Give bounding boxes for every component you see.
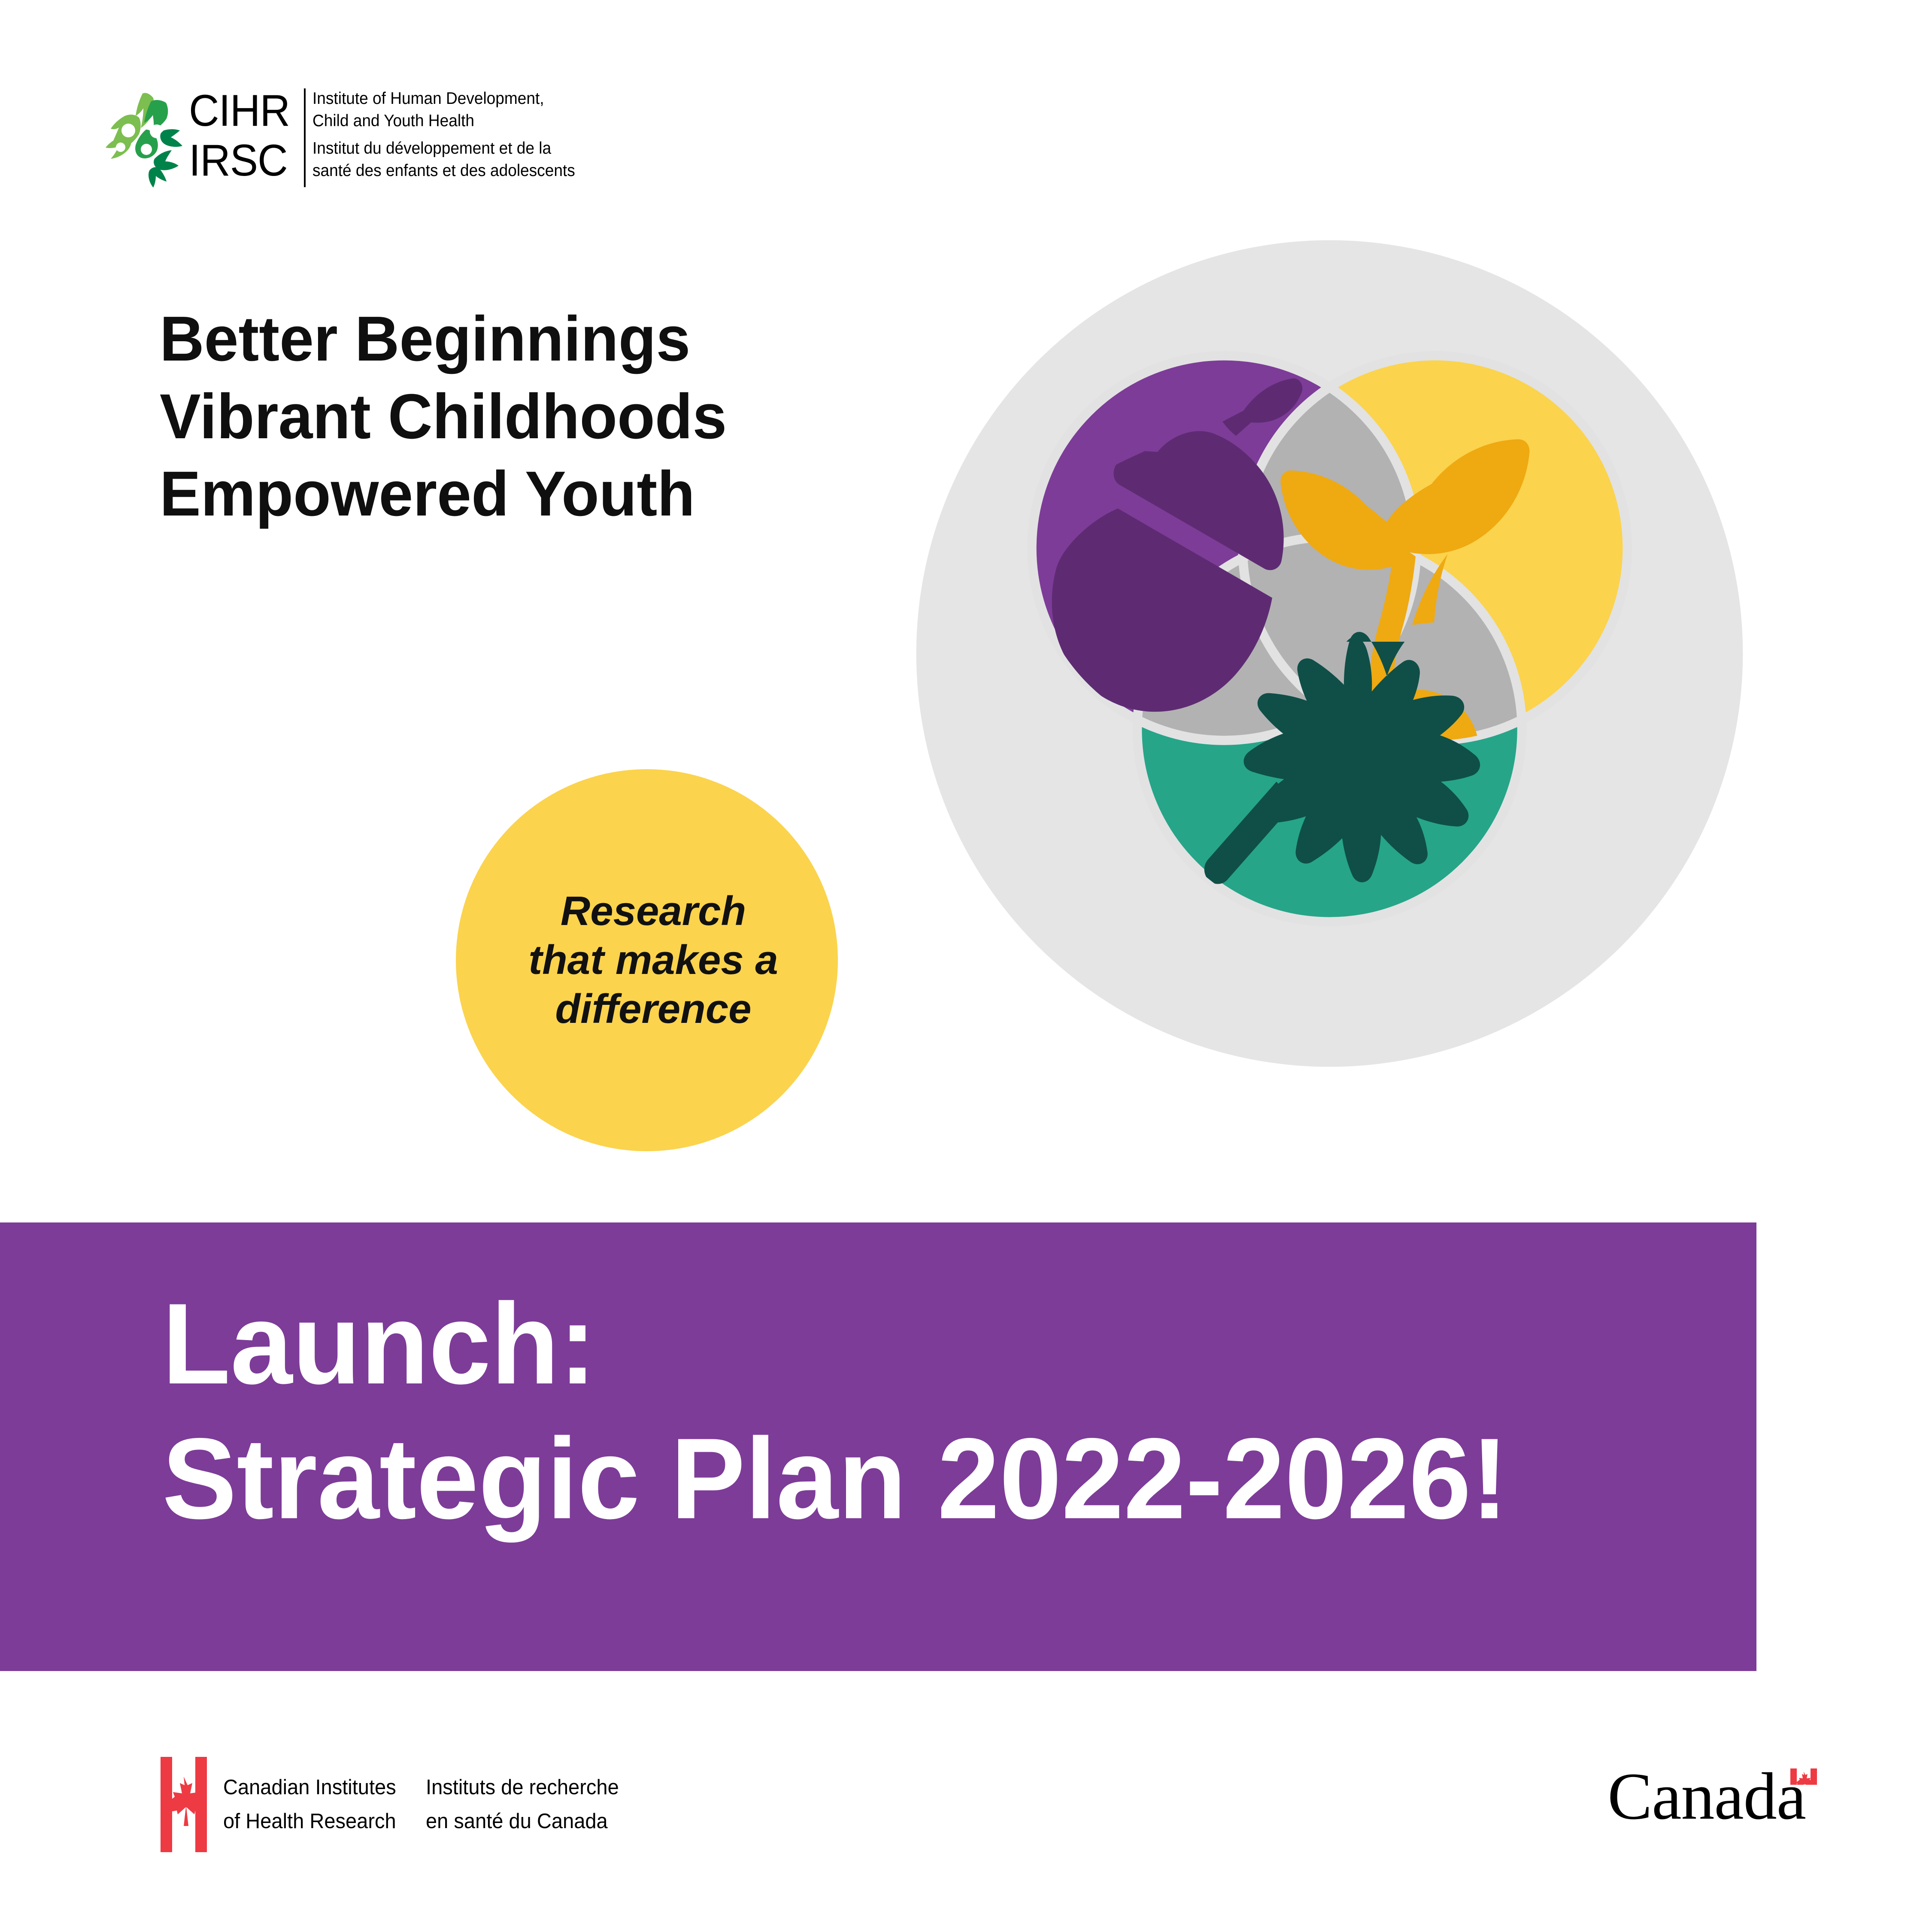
institute-name-en-line-1: Institute of Human Development, xyxy=(312,88,575,110)
footer-org-name-fr: Instituts de recherche en santé du Canad… xyxy=(426,1757,627,1852)
institute-name-en: Institute of Human Development, Child an… xyxy=(312,85,589,135)
institute-name-fr: Institut du développement et de la santé… xyxy=(312,135,589,185)
footer-org-en-line-1: Canadian Institutes xyxy=(223,1771,396,1805)
tagline-line-2: that makes a xyxy=(469,936,838,985)
acronym-irsc: IRSC xyxy=(189,136,290,185)
acronym-cihr: CIHR xyxy=(189,86,290,136)
footer-org-name-en: Canadian Institutes of Health Research xyxy=(223,1757,403,1852)
tagline-text: Research that makes a difference xyxy=(456,887,838,1034)
headline-line-3: Empowered Youth xyxy=(160,455,889,533)
venn-diagram xyxy=(908,232,1751,1075)
tagline-line-3: difference xyxy=(469,985,838,1034)
institute-name-fr-line-1: Institut du développement et de la xyxy=(312,137,575,160)
footer-cihr-signature: Canadian Institutes of Health Research I… xyxy=(161,1757,627,1852)
footer-org-fr-line-2: en santé du Canada xyxy=(426,1805,619,1838)
canada-wordmark-text: Canada xyxy=(1607,1764,1806,1829)
tagline-bubble: Research that makes a difference xyxy=(456,769,838,1151)
footer-org-fr-line-1: Instituts de recherche xyxy=(426,1771,619,1805)
canada-flag-icon xyxy=(161,1757,207,1852)
canada-flag-icon xyxy=(1790,1768,1817,1785)
institute-name-en-line-2: Child and Youth Health xyxy=(312,110,575,132)
page-title: Better Beginnings Vibrant Childhoods Emp… xyxy=(160,300,911,533)
headline-line-2: Vibrant Childhoods xyxy=(160,378,889,456)
banner-line-launch: Launch: xyxy=(162,1286,596,1401)
banner-line-strategic-plan: Strategic Plan 2022-2026! xyxy=(162,1421,1508,1536)
cihr-institute-lockup: CIHR IRSC Institute of Human Development… xyxy=(98,84,589,191)
headline-line-1: Better Beginnings xyxy=(160,300,889,378)
canada-wordmark: Canada xyxy=(1607,1764,1817,1829)
footer-org-en-line-2: of Health Research xyxy=(223,1805,396,1838)
launch-banner: Launch: Strategic Plan 2022-2026! xyxy=(0,1222,1756,1671)
cihr-acronyms: CIHR IRSC xyxy=(189,86,296,185)
cihr-institute-names: Institute of Human Development, Child an… xyxy=(312,84,589,185)
tagline-line-1: Research xyxy=(469,887,838,936)
institute-name-fr-line-2: santé des enfants et des adolescents xyxy=(312,160,575,182)
cihr-maple-leaf-people-icon xyxy=(98,84,184,191)
lockup-divider-rule xyxy=(304,88,306,187)
